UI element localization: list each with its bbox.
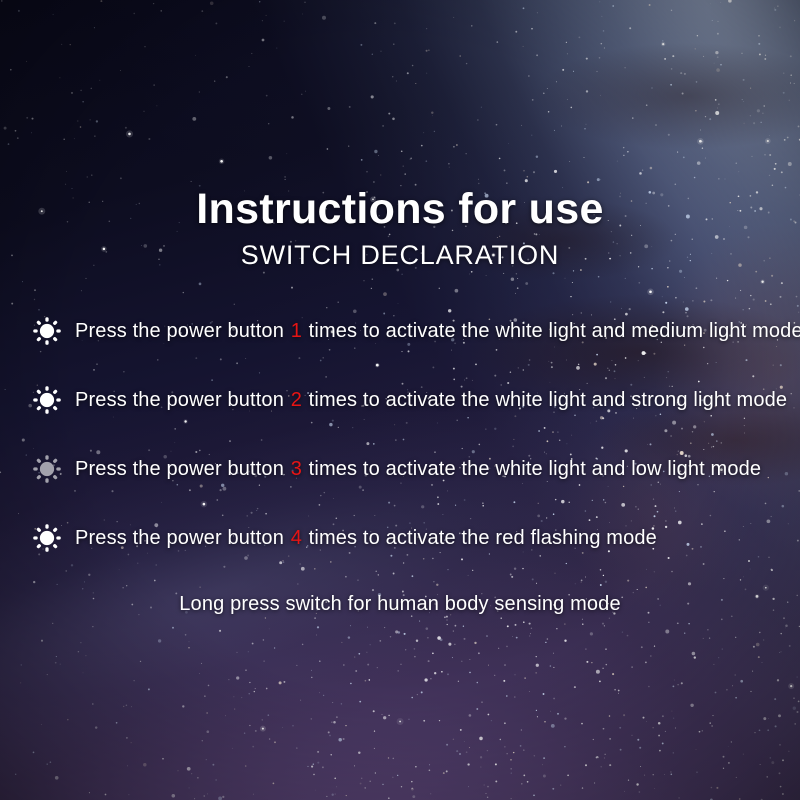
brightness-high-icon (32, 385, 62, 415)
poster-content: Instructions for use SWITCH DECLARATION … (0, 0, 800, 800)
instruction-suffix: times to activate the red flashing mode (303, 527, 657, 549)
instruction-text: Press the power button 2 times to activa… (75, 389, 787, 412)
instruction-row: Press the power button 1 times to activa… (32, 308, 777, 354)
instruction-prefix: Press the power button (75, 320, 290, 342)
press-count: 2 (290, 389, 303, 411)
press-count: 4 (290, 527, 303, 549)
instruction-prefix: Press the power button (75, 458, 290, 480)
instruction-text: Press the power button 4 times to activa… (75, 527, 657, 550)
instruction-suffix: times to activate the white light and lo… (303, 458, 761, 480)
instruction-row: Press the power button 3 times to activa… (32, 446, 777, 492)
instruction-poster: Instructions for use SWITCH DECLARATION … (0, 0, 800, 800)
brightness-low-icon (32, 454, 62, 484)
instruction-prefix: Press the power button (75, 527, 290, 549)
instruction-suffix: times to activate the white light and me… (303, 320, 800, 342)
instruction-list: Press the power button 1 times to activa… (32, 308, 777, 584)
instruction-row: Press the power button 4 times to activa… (32, 515, 777, 561)
page-subtitle: SWITCH DECLARATION (0, 240, 800, 271)
instruction-text: Press the power button 1 times to activa… (75, 320, 800, 343)
instruction-suffix: times to activate the white light and st… (303, 389, 787, 411)
press-count: 3 (290, 458, 303, 480)
instruction-prefix: Press the power button (75, 389, 290, 411)
press-count: 1 (290, 320, 303, 342)
instruction-row: Press the power button 2 times to activa… (32, 377, 777, 423)
footnote-text: Long press switch for human body sensing… (0, 593, 800, 616)
page-title: Instructions for use (0, 185, 800, 234)
brightness-flash-icon (32, 523, 62, 553)
brightness-medium-icon (32, 316, 62, 346)
instruction-text: Press the power button 3 times to activa… (75, 458, 761, 481)
